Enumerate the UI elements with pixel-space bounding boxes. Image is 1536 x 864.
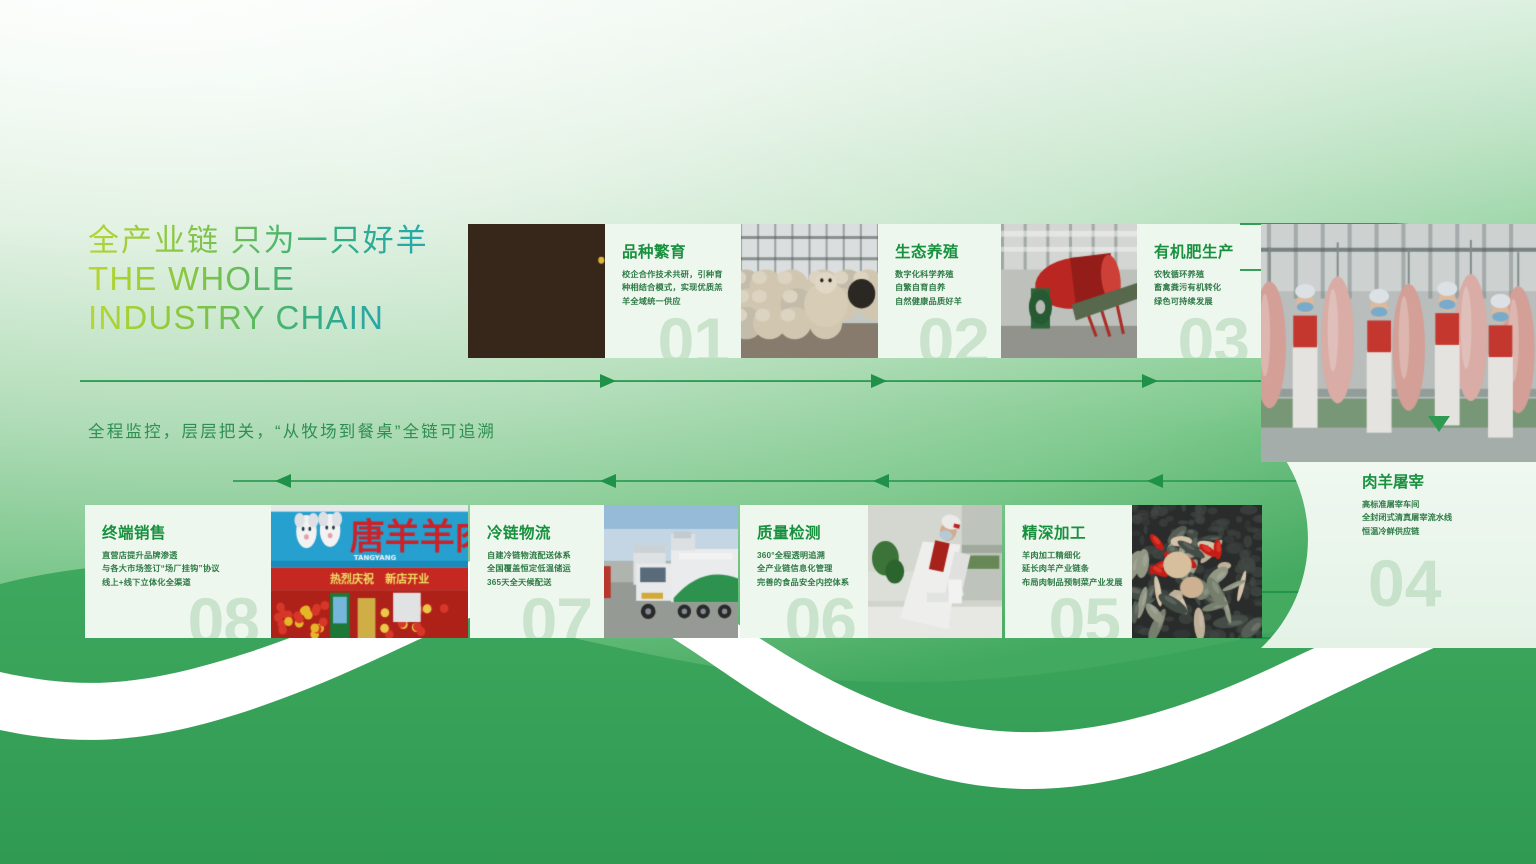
step-card-02[interactable]: 生态养殖 数字化科学养殖 自繁自育自养 自然健康品质好羊 02: [878, 224, 1001, 358]
step-line: 自繁自育自养: [895, 281, 962, 294]
step-title-08: 终端销售: [102, 521, 166, 543]
step-number-06: 06: [785, 588, 856, 638]
step-lines-06: 360°全程透明追溯 全产业链信息化管理 完善的食品安全内控体系: [757, 549, 849, 589]
step-line: 农牧循环养殖: [1154, 268, 1221, 281]
flow-track-top: [80, 374, 1312, 388]
step-number-08: 08: [188, 588, 259, 638]
page-title-en-line1: THE WHOLE: [88, 260, 488, 299]
step-line: 360°全程透明追溯: [757, 549, 849, 562]
step-line: 全国覆盖恒定低温储运: [487, 562, 571, 575]
header-block: 全产业链 只为一只好羊 THE WHOLE INDUSTRY CHAIN: [88, 222, 488, 338]
flow-track-bottom: [233, 474, 1312, 488]
step-title-03: 有机肥生产: [1154, 240, 1234, 262]
step-line: 种相结合模式，实现优质羔: [622, 281, 723, 294]
step-line: 校企合作技术共研，引种育: [622, 268, 723, 281]
page-title-en-line2: INDUSTRY CHAIN: [88, 299, 488, 338]
step-line: 与各大市场签订“场厂挂钩”协议: [102, 562, 220, 575]
step-number-04: 04: [1368, 550, 1441, 616]
step-lines-03: 农牧循环养殖 畜禽粪污有机转化 绿色可持续发展: [1154, 268, 1221, 308]
step-line: 延长肉羊产业链条: [1022, 562, 1123, 575]
infographic-stage: 全产业链 只为一只好羊 THE WHOLE INDUSTRY CHAIN 全程监…: [0, 0, 1536, 864]
photo-refrigerated-trucks: [604, 505, 738, 638]
photo-lambs-in-pen: [468, 224, 605, 358]
step-title-01: 品种繁育: [622, 240, 686, 262]
step-line: 羊肉加工精细化: [1022, 549, 1123, 562]
step-card-05[interactable]: 精深加工 羊肉加工精细化 延长肉羊产业链条 布局肉制品预制菜产业发展 05: [1005, 505, 1132, 638]
photo-organic-fertilizer-machine: [1001, 224, 1137, 358]
step-title-05: 精深加工: [1022, 521, 1086, 543]
step-lines-05: 羊肉加工精细化 延长肉羊产业链条 布局肉制品预制菜产业发展: [1022, 549, 1123, 589]
step-number-03: 03: [1178, 308, 1249, 358]
photo-processed-mutton-dish: [1132, 505, 1262, 638]
step-lines-01: 校企合作技术共研，引种育 种相结合模式，实现优质羔 羊全域统一供应: [622, 268, 723, 308]
step-line: 恒温冷鲜供应链: [1362, 525, 1452, 538]
step-line: 高标准屠宰车间: [1362, 498, 1452, 511]
photo-lab-technician-testing: [868, 505, 1002, 638]
step-line: 直营店提升品牌渗透: [102, 549, 220, 562]
step-lines-02: 数字化科学养殖 自繁自育自养 自然健康品质好羊: [895, 268, 962, 308]
photo-retail-storefront: [271, 505, 468, 638]
step-lines-08: 直营店提升品牌渗透 与各大市场签订“场厂挂钩”协议 线上+线下立体化全渠道: [102, 549, 220, 589]
step-lines-04: 高标准屠宰车间 全封闭式清真屠宰流水线 恒温冷鲜供应链: [1362, 498, 1452, 538]
step-line: 畜禽粪污有机转化: [1154, 281, 1221, 294]
page-title-cn: 全产业链 只为一只好羊: [88, 222, 488, 260]
step-title-06: 质量检测: [757, 521, 821, 543]
step-title-07: 冷链物流: [487, 521, 551, 543]
step-line: 自建冷链物流配送体系: [487, 549, 571, 562]
step-title-04: 肉羊屠宰: [1362, 470, 1424, 492]
subtitle-text: 全程监控，层层把关，“从牧场到餐桌”全链可追溯: [88, 418, 496, 442]
step-card-06[interactable]: 质量检测 360°全程透明追溯 全产业链信息化管理 完善的食品安全内控体系 06: [740, 505, 868, 638]
step-card-01[interactable]: 品种繁育 校企合作技术共研，引种育 种相结合模式，实现优质羔 羊全域统一供应 0…: [605, 224, 741, 358]
flow-uturn-right: 肉羊屠宰 高标准屠宰车间 全封闭式清真屠宰流水线 恒温冷鲜供应链 04: [1240, 218, 1536, 648]
step-lines-07: 自建冷链物流配送体系 全国覆盖恒定低温储运 365天全天候配送: [487, 549, 571, 589]
step-number-07: 07: [521, 588, 592, 638]
photo-sheep-barn-herd: [741, 224, 878, 358]
step-line: 数字化科学养殖: [895, 268, 962, 281]
step-line: 全封闭式清真屠宰流水线: [1362, 511, 1452, 524]
step-line: 全产业链信息化管理: [757, 562, 849, 575]
step-card-08[interactable]: 终端销售 直营店提升品牌渗透 与各大市场签订“场厂挂钩”协议 线上+线下立体化全…: [85, 505, 271, 638]
step-title-02: 生态养殖: [895, 240, 959, 262]
step-card-04[interactable]: 肉羊屠宰 高标准屠宰车间 全封闭式清真屠宰流水线 恒温冷鲜供应链 04: [1350, 458, 1530, 643]
step-card-07[interactable]: 冷链物流 自建冷链物流配送体系 全国覆盖恒定低温储运 365天全天候配送 07: [470, 505, 604, 638]
step-number-01: 01: [658, 308, 729, 358]
step-number-02: 02: [918, 308, 989, 358]
step-number-05: 05: [1049, 588, 1120, 638]
